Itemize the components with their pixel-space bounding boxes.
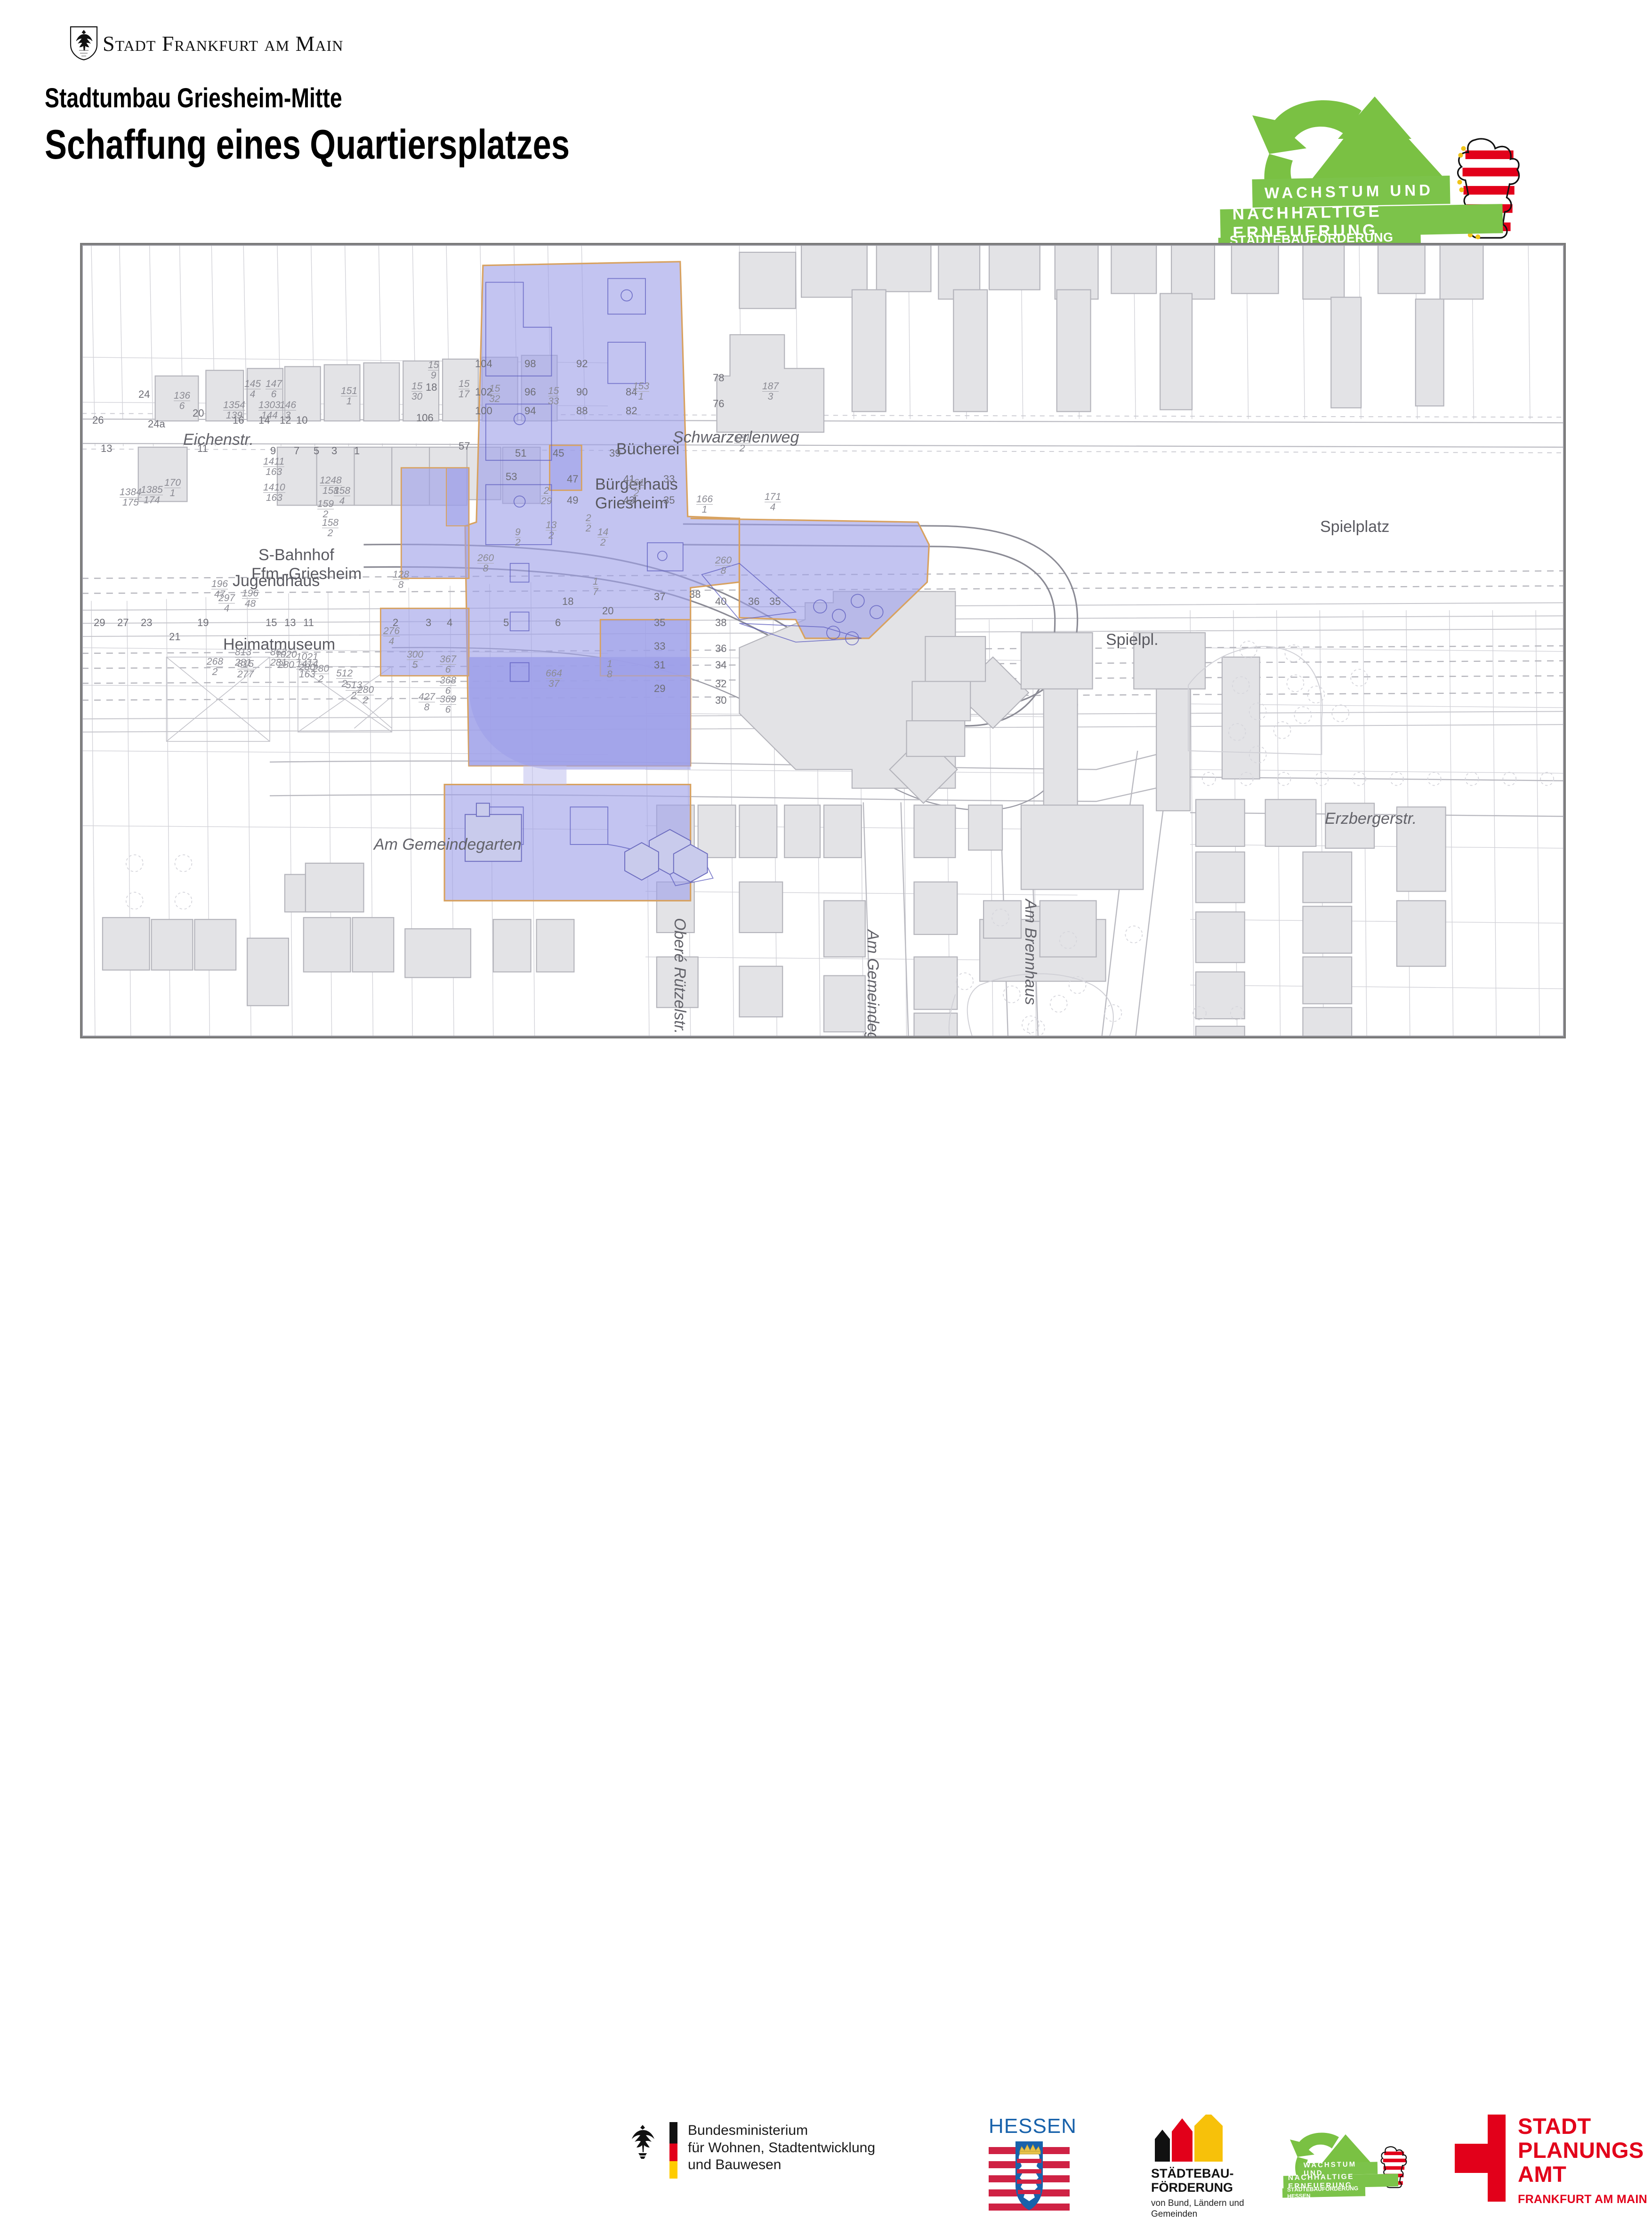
stbf-sub-1: von Bund, Ländern und xyxy=(1151,2198,1264,2209)
programme-small-band-1: WACHSTUM UND xyxy=(1298,2162,1378,2175)
page-subtitle: Stadtumbau Griesheim-Mitte xyxy=(45,82,570,114)
bmwsb-wordmark: Bundesministerium für Wohnen, Stadtentwi… xyxy=(688,2122,875,2174)
spa-subline: FRANKFURT AM MAIN xyxy=(1518,2193,1647,2206)
city-logo-wordmark: Stadt Frankfurt am Main xyxy=(103,31,343,56)
spa-block-mark-icon xyxy=(1455,2115,1506,2202)
title-block: Stadtumbau Griesheim-Mitte Schaffung ein… xyxy=(45,82,701,169)
stbf-title: STÄDTEBAU- FÖRDERUNG xyxy=(1151,2166,1264,2195)
german-flag-bar-icon xyxy=(669,2122,677,2179)
programme-logo-small: WACHSTUM UND NACHHALTIGE ERNEUERUNG STÄD… xyxy=(1285,2128,1417,2208)
bmwsb-line-1: Bundesministerium xyxy=(688,2122,875,2140)
city-logo: Stadt Frankfurt am Main xyxy=(70,26,343,61)
page-title: Schaffung eines Quartiersplatzes xyxy=(45,121,570,169)
spa-line-3: AMT xyxy=(1518,2163,1647,2187)
stbf-sub-2: Gemeinden xyxy=(1151,2209,1264,2220)
stadtebaufoerderung-logo: STÄDTEBAU- FÖRDERUNG von Bund, Ländern u… xyxy=(1151,2115,1264,2220)
three-houses-icon xyxy=(1151,2115,1264,2162)
page-footer: Bundesministerium für Wohnen, Stadtentwi… xyxy=(0,1050,1652,1167)
hessen-coat-of-arms-icon xyxy=(989,2140,1070,2211)
bmwsb-line-2: für Wohnen, Stadtentwicklung xyxy=(688,2140,875,2157)
programme-small-band-2: NACHHALTIGE ERNEUERUNG xyxy=(1283,2174,1398,2189)
programme-small-band-3: STÄDTEBAUFÖRDERUNG HESSEN xyxy=(1282,2187,1365,2197)
spa-line-1: STADT xyxy=(1518,2115,1647,2139)
spa-wordmark: STADT PLANUNGS AMT FRANKFURT AM MAIN xyxy=(1518,2115,1647,2206)
map-vector-layer xyxy=(82,245,1564,1037)
bmwsb-logo: Bundesministerium für Wohnen, Stadtentwi… xyxy=(626,2122,875,2179)
cadastral-map[interactable]: Eichenstr.SchwarzerlenwegErzbergerstr.Am… xyxy=(80,243,1566,1038)
frankfurt-eagle-shield-icon xyxy=(70,26,98,61)
federal-eagle-icon xyxy=(626,2122,659,2160)
hessen-wordmark: HESSEN xyxy=(989,2115,1070,2138)
spa-line-2: PLANUNGS xyxy=(1518,2139,1647,2163)
page-header: Stadt Frankfurt am Main Stadtumbau Gries… xyxy=(0,0,1652,235)
stbf-subtitle: von Bund, Ländern und Gemeinden xyxy=(1151,2198,1264,2220)
hessen-logo: HESSEN xyxy=(989,2115,1070,2211)
bmwsb-line-3: und Bauwesen xyxy=(688,2156,875,2174)
stbf-line-2: FÖRDERUNG xyxy=(1151,2180,1264,2195)
stbf-line-1: STÄDTEBAU- xyxy=(1151,2166,1264,2180)
stadtplanungsamt-logo: STADT PLANUNGS AMT FRANKFURT AM MAIN xyxy=(1455,2115,1647,2206)
